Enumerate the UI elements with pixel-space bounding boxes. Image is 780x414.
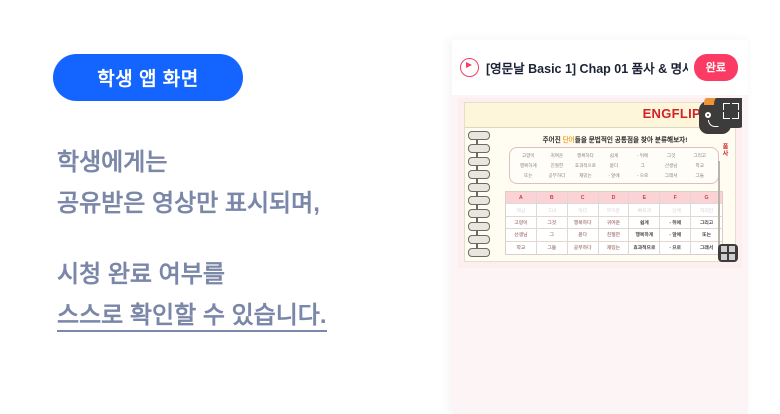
word-bank-item: - 앞에 (600, 171, 629, 180)
table-cell: 효과적으로 (629, 242, 660, 254)
left-content-column: 학생 앱 화면 학생에게는 공유받은 영상만 표시되며, 시청 완료 여부를 스… (0, 0, 440, 414)
spiral-ring (468, 196, 490, 205)
table-row: 고양이그것행복하다귀여운쉽게- 뒤에그리고 (506, 217, 722, 229)
table-cell: 친절한 (599, 229, 630, 241)
copy-spacer (57, 224, 417, 254)
table-header-cell: F (660, 192, 691, 204)
spiral-ring (468, 131, 490, 140)
table-header-cell: E (629, 192, 660, 204)
video-list-item-header[interactable]: [영문날 Basic 1] Chap 01 품사 & 명사 완료 (452, 40, 748, 95)
grid-view-icon[interactable] (718, 244, 738, 262)
word-bank-item: 묻다 (600, 161, 629, 170)
table-cell: 고양이 (506, 217, 537, 229)
table-header-row: ABCDEFG (506, 192, 722, 204)
table-cell: - 안에 (660, 204, 691, 216)
spiral-ring (468, 235, 490, 244)
spiral-ring (468, 144, 490, 153)
student-app-screen-badge: 학생 앱 화면 (53, 54, 243, 101)
copy-line-2: 공유받은 영상만 표시되며, (57, 183, 417, 224)
mascot-eye-left (705, 112, 711, 118)
classification-table: ABCDEFG책상그녀먹다무거운빠르게- 안에하지만고양이그것행복하다귀여운쉽게… (505, 191, 723, 255)
word-bank-item: 행복하게 (514, 161, 543, 170)
spiral-ring (468, 157, 490, 166)
grid-squares (721, 246, 735, 260)
expand-fullscreen-icon[interactable] (714, 98, 742, 128)
video-thumbnail[interactable]: ENGFLIP 주어진 단어들을 문법적인 공통점을 찾아 분류해보자! (458, 98, 742, 268)
table-cell: 귀여운 (599, 217, 630, 229)
spiral-binding (468, 131, 490, 257)
word-bank-item: 공부하다 (543, 171, 572, 180)
table-cell: 행복하다 (568, 217, 599, 229)
corner-brackets (723, 103, 739, 119)
word-bank-item: 또는 (514, 171, 543, 180)
copy-line-4: 스스로 확인할 수 있습니다. (57, 295, 417, 336)
spiral-ring (468, 222, 490, 231)
spiral-ring (468, 170, 490, 179)
status-badge-complete: 완료 (694, 54, 738, 81)
table-cell: - 앞에 (660, 229, 691, 241)
word-bank-item: 그것 (657, 151, 686, 160)
word-bank-item: 그들 (685, 171, 714, 180)
table-cell: 그녀 (537, 204, 568, 216)
word-bank-item: 쉽게 (600, 151, 629, 160)
play-circle-icon (460, 58, 479, 77)
table-header-cell: A (506, 192, 537, 204)
table-cell: - 뒤에 (660, 217, 691, 229)
table-row: 책상그녀먹다무거운빠르게- 안에하지만 (506, 204, 722, 216)
student-app-screen-badge-label: 학생 앱 화면 (97, 64, 198, 91)
word-bank-item: 그리고 (685, 151, 714, 160)
word-bank-item: 친절한 (543, 161, 572, 170)
worksheet-page: ENGFLIP 주어진 단어들을 문법적인 공통점을 찾아 분류해보자! (464, 102, 736, 262)
table-cell: 묻다 (568, 229, 599, 241)
copy-line-1: 학생에게는 (57, 142, 417, 183)
student-app-panel: [영문날 Basic 1] Chap 01 품사 & 명사 완료 ENGFLIP (452, 40, 748, 414)
word-bank-item: 귀여운 (543, 151, 572, 160)
worksheet-vertical-label: 품사 (720, 143, 729, 157)
word-bank-item: 학교 (685, 161, 714, 170)
table-cell: 재밌는 (599, 242, 630, 254)
word-bank-item: 행복하다 (571, 151, 600, 160)
table-cell: - 으로 (660, 242, 691, 254)
spiral-ring (468, 248, 490, 257)
table-cell: 먹다 (568, 204, 599, 216)
table-cell: 공부하다 (568, 242, 599, 254)
worksheet-vertical-rule (718, 161, 720, 247)
word-bank-item: - 뒤에 (628, 151, 657, 160)
table-cell: 그것 (537, 217, 568, 229)
table-cell: 쉽게 (629, 217, 660, 229)
table-cell: 무거운 (599, 204, 630, 216)
word-bank-item: 고양이 (514, 151, 543, 160)
table-cell: 책상 (506, 204, 537, 216)
table-header-cell: B (537, 192, 568, 204)
spiral-ring (468, 183, 490, 192)
worksheet-heading: 주어진 단어들을 문법적인 공통점을 찾아 분류해보자! (505, 134, 725, 144)
table-cell: 학교 (506, 242, 537, 254)
table-row: 학교그들공부하다재밌는효과적으로- 으로그래서 (506, 242, 722, 254)
table-header-cell: D (599, 192, 630, 204)
table-cell: 그 (537, 229, 568, 241)
word-bank-item: - 으로 (628, 171, 657, 180)
word-bank-item: 재밌는 (571, 171, 600, 180)
table-header-cell: C (568, 192, 599, 204)
word-bank-box: 고양이귀여운행복하다쉽게- 뒤에그것그리고행복하게친절한효과적으로묻다그선생님학… (509, 147, 719, 184)
description-copy-block: 학생에게는 공유받은 영상만 표시되며, 시청 완료 여부를 스스로 확인할 수… (57, 142, 417, 336)
worksheet-heading-suffix: 들을 문법적인 공통점을 찾아 분류해보자! (575, 137, 688, 144)
engflip-logo: ENGFLIP (643, 106, 701, 121)
table-row: 선생님그묻다친절한행복하게- 앞에또는 (506, 229, 722, 241)
worksheet-heading-prefix: 주어진 (543, 137, 563, 144)
table-cell: 빠르게 (629, 204, 660, 216)
table-cell: 선생님 (506, 229, 537, 241)
table-cell: 행복하게 (629, 229, 660, 241)
word-bank-item: 그래서 (657, 171, 686, 180)
worksheet-heading-highlight: 단어 (563, 137, 575, 144)
video-title: [영문날 Basic 1] Chap 01 품사 & 명사 (486, 58, 688, 77)
spiral-ring (468, 209, 490, 218)
word-bank-item: 효과적으로 (571, 161, 600, 170)
table-cell: 그들 (537, 242, 568, 254)
word-bank-item: 그 (628, 161, 657, 170)
copy-line-4-text: 스스로 확인할 수 있습니다. (57, 302, 327, 332)
word-bank-item: 선생님 (657, 161, 686, 170)
copy-line-3: 시청 완료 여부를 (57, 254, 417, 295)
